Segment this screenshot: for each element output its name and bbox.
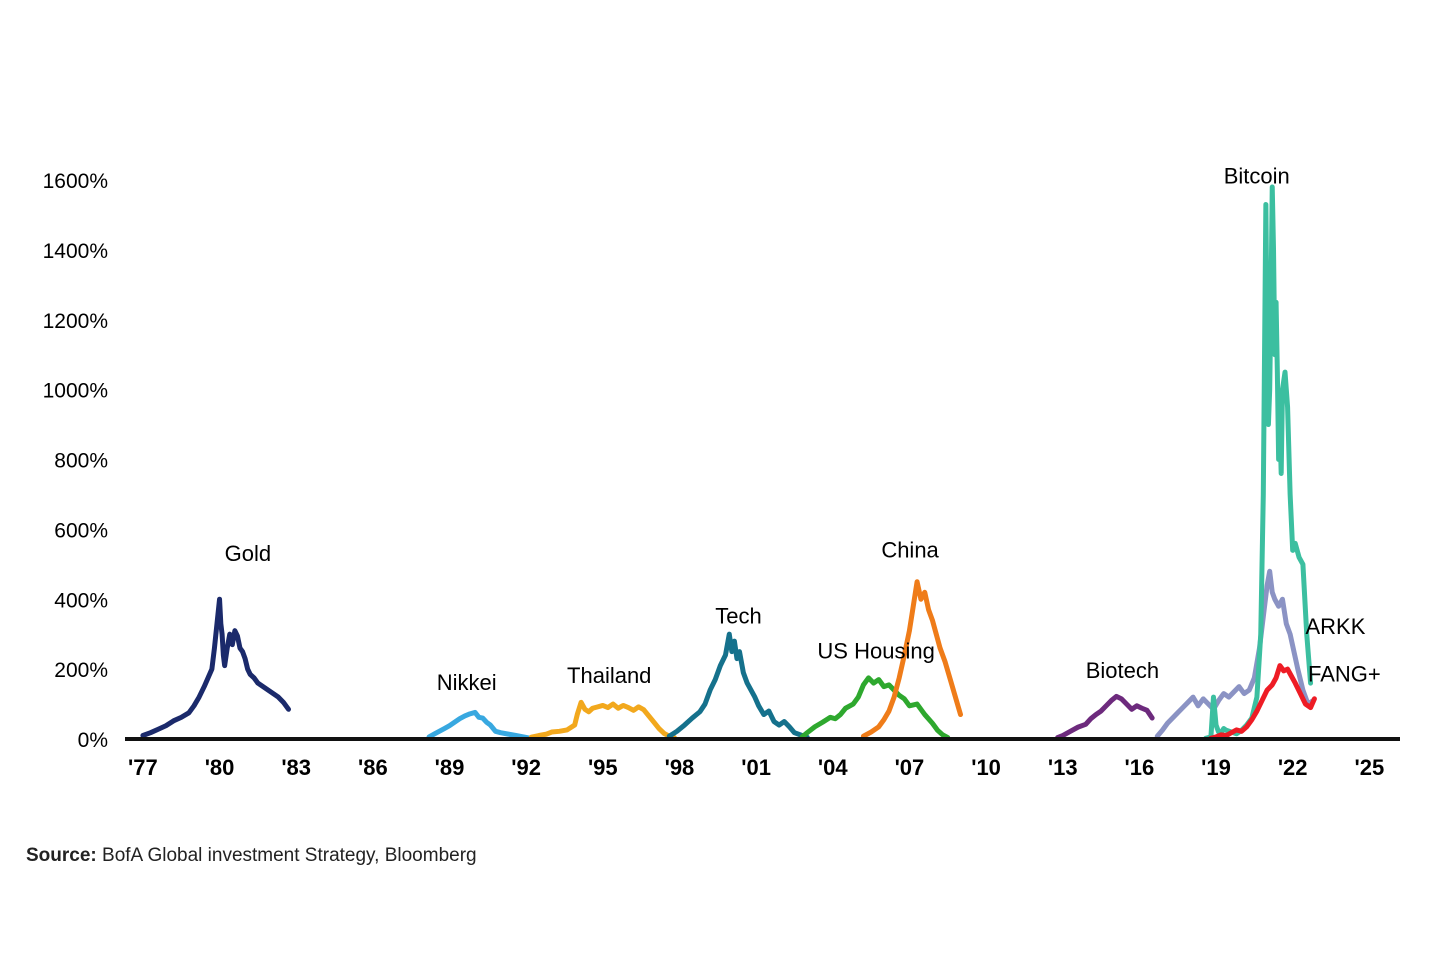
x-axis-ticks: '77'80'83'86'89'92'95'98'01'04'07'10'13'… (128, 755, 1384, 780)
series-line-thailand (531, 702, 674, 737)
series-line-biotech (1058, 696, 1153, 737)
series-line-nikkei (429, 712, 529, 738)
x-tick-label: '04 (818, 755, 848, 780)
series-label-bitcoin: Bitcoin (1224, 163, 1290, 188)
series-line-gold (143, 599, 289, 735)
x-tick-label: '86 (358, 755, 388, 780)
y-tick-label: 1200% (43, 310, 108, 333)
x-tick-label: '07 (895, 755, 925, 780)
y-tick-label: 800% (54, 450, 108, 473)
x-tick-label: '25 (1354, 755, 1384, 780)
series-annotations: GoldNikkeiThailandTechUS HousingChinaBio… (225, 163, 1381, 695)
x-tick-label: '10 (971, 755, 1001, 780)
y-tick-label: 1400% (43, 240, 108, 263)
x-tick-label: '83 (281, 755, 311, 780)
x-tick-label: '95 (588, 755, 618, 780)
bubbles-chart: 0%200%400%600%800%1000%1200%1400%1600% '… (0, 0, 1440, 960)
y-tick-label: 0% (78, 729, 108, 752)
x-tick-label: '01 (741, 755, 771, 780)
series-label-arkk: ARKK (1305, 614, 1365, 639)
series-line-tech (669, 634, 807, 737)
y-axis-ticks: 0%200%400%600%800%1000%1200%1400%1600% (43, 170, 108, 752)
series-layer (143, 187, 1315, 738)
x-tick-label: '19 (1201, 755, 1231, 780)
x-tick-label: '16 (1125, 755, 1155, 780)
chart-canvas: 0%200%400%600%800%1000%1200%1400%1600% '… (0, 0, 1440, 960)
y-tick-label: 400% (54, 589, 108, 612)
source-text: BofA Global investment Strategy, Bloombe… (97, 845, 477, 866)
y-tick-label: 200% (54, 659, 108, 682)
series-label-us-housing: US Housing (817, 639, 934, 664)
series-label-biotech: Biotech (1086, 658, 1159, 683)
source-prefix: Source: (26, 845, 97, 866)
y-tick-label: 1000% (43, 380, 108, 403)
series-label-gold: Gold (225, 541, 271, 566)
x-tick-label: '89 (435, 755, 465, 780)
series-label-nikkei: Nikkei (437, 670, 497, 695)
series-label-china: China (881, 537, 939, 562)
series-label-thailand: Thailand (567, 663, 651, 688)
series-label-tech: Tech (715, 604, 761, 629)
series-line-arkk (1157, 571, 1313, 736)
x-tick-label: '13 (1048, 755, 1078, 780)
source-note: Source: BofA Global investment Strategy,… (26, 845, 477, 867)
y-tick-label: 1600% (43, 170, 108, 193)
x-tick-label: '22 (1278, 755, 1308, 780)
y-tick-label: 600% (54, 519, 108, 542)
x-tick-label: '98 (665, 755, 695, 780)
series-label-fang: FANG+ (1308, 661, 1381, 686)
x-tick-label: '80 (205, 755, 235, 780)
x-tick-label: '77 (128, 755, 158, 780)
x-tick-label: '92 (511, 755, 541, 780)
